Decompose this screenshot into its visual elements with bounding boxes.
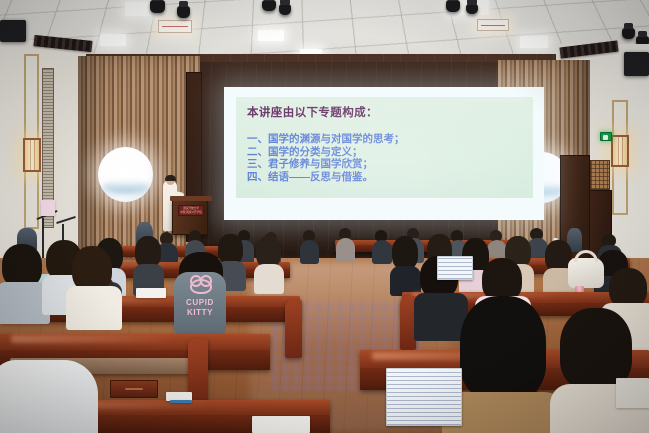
ceiling-spotlight bbox=[466, 4, 478, 14]
audience-kitty-hoodie: CUPID KITTY bbox=[174, 272, 226, 334]
slide-topic-item: 一、国学的渊源与对国学的思考； bbox=[247, 133, 527, 146]
slide-title: 本讲座由以下专题构成： bbox=[247, 104, 378, 120]
audience-hair bbox=[392, 236, 418, 270]
open-laptop bbox=[437, 256, 473, 280]
slide-topic-list: 一、国学的渊源与对国学的思考； 二、国学的分类与定义； 三、君子修养与国学欣赏；… bbox=[247, 133, 527, 183]
notebook-page bbox=[136, 288, 166, 298]
slide-topic-item: 四、结语——反思与借鉴。 bbox=[247, 171, 527, 184]
ceiling-spotlight bbox=[622, 28, 635, 39]
desk-drawer bbox=[110, 380, 158, 398]
left-moon-window bbox=[98, 147, 153, 202]
microphone-stand-pole bbox=[42, 218, 44, 260]
hoodie-text: CUPID KITTY bbox=[174, 298, 226, 318]
ceiling-spotlight bbox=[446, 0, 460, 12]
ceiling-spotlight bbox=[279, 4, 291, 15]
ceiling-light-panel bbox=[520, 36, 548, 48]
ceiling-light-panel bbox=[258, 30, 284, 41]
handbag-white bbox=[568, 258, 604, 288]
presenter-hair bbox=[165, 175, 176, 181]
ceiling-light-panel bbox=[100, 34, 126, 46]
pen bbox=[170, 400, 192, 403]
pa-speaker-right bbox=[624, 52, 649, 76]
handout-paper bbox=[252, 416, 310, 433]
exit-sign-icon bbox=[600, 132, 612, 141]
lectern-plate-line-2: 中国·国家公开学院 bbox=[180, 211, 202, 215]
slide-topic-item: 三、君子修养与国学欣赏； bbox=[247, 158, 527, 171]
lectern-top bbox=[170, 196, 212, 201]
audience-torso bbox=[0, 360, 98, 433]
ceiling-spotlight bbox=[177, 6, 190, 18]
moon-window-ink-wash bbox=[102, 180, 148, 194]
handout-paper bbox=[616, 378, 649, 408]
open-laptop bbox=[386, 368, 462, 426]
ceiling-spotlight bbox=[150, 0, 165, 13]
lectern-name-plate: 国家开放大学 中国·国家公开学院 bbox=[178, 205, 204, 216]
hoodie-text-line-2: KITTY bbox=[174, 308, 226, 318]
audience-torso bbox=[254, 264, 284, 294]
audience-torso bbox=[66, 286, 122, 330]
lectern-signage-card bbox=[41, 200, 55, 216]
desk-highlight bbox=[11, 335, 173, 343]
audience-torso bbox=[372, 240, 392, 264]
bench-end-left bbox=[285, 300, 302, 358]
right-wall-sconce bbox=[611, 135, 629, 167]
audience-torso bbox=[300, 240, 319, 264]
audience-torso bbox=[336, 238, 355, 262]
audience-hair bbox=[460, 296, 546, 400]
laptop-screen bbox=[387, 369, 461, 425]
hoodie-text-line-1: CUPID bbox=[174, 298, 226, 308]
ceiling-spotlight bbox=[262, 0, 276, 11]
right-door-transom-lattice bbox=[590, 160, 610, 190]
audience-hair bbox=[609, 268, 647, 308]
laptop-screen bbox=[438, 257, 472, 279]
projection-screen: 本讲座由以下专题构成： 一、国学的渊源与对国学的思考； 二、国学的分类与定义； … bbox=[224, 87, 544, 220]
ceiling-troffer-light bbox=[477, 19, 509, 31]
lectern: 国家开放大学 中国·国家公开学院 bbox=[172, 199, 208, 235]
ceiling-troffer-light bbox=[158, 20, 192, 33]
hello-kitty-graphic-icon bbox=[190, 279, 212, 294]
lecture-hall-photo: 本讲座由以下专题构成： 一、国学的渊源与对国学的思考； 二、国学的分类与定义； … bbox=[0, 0, 649, 433]
slide-content-box: 本讲座由以下专题构成： 一、国学的渊源与对国学的思考； 二、国学的分类与定义； … bbox=[236, 97, 533, 198]
left-wall-sconce bbox=[23, 138, 41, 172]
pa-speaker-left bbox=[0, 20, 26, 42]
slide-topic-item: 二、国学的分类与定义； bbox=[247, 146, 527, 159]
